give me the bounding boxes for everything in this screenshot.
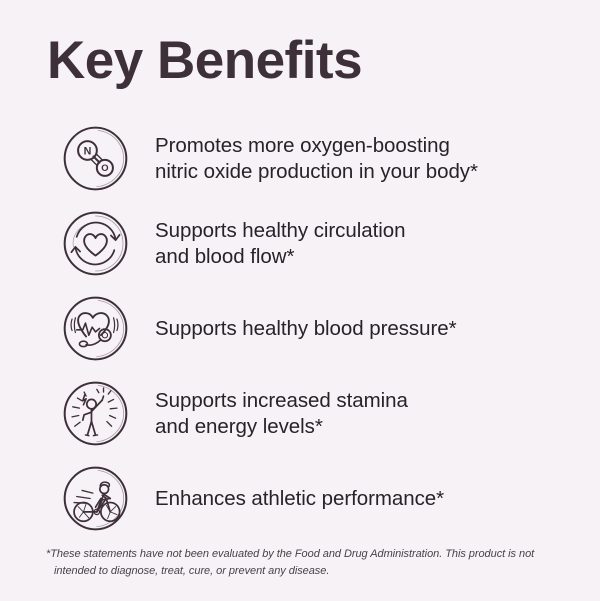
benefit-list: N O Promotes more oxygen-boosting nitric… [0, 116, 600, 541]
benefit-text-line: Enhances athletic performance* [155, 486, 600, 512]
benefit-text: Promotes more oxygen-boosting nitric oxi… [155, 133, 600, 185]
nitric-oxide-molecule-icon: N O [62, 125, 129, 192]
cyclist-icon [62, 465, 129, 532]
benefit-text-line: Supports healthy blood pressure* [155, 316, 600, 342]
benefit-text: Supports increased stamina and energy le… [155, 388, 600, 440]
benefit-text-line: Promotes more oxygen-boosting [155, 133, 600, 159]
disclaimer-line: intended to diagnose, treat, cure, or pr… [46, 563, 556, 580]
fda-disclaimer: *These statements have not been evaluate… [46, 546, 556, 579]
list-item: Supports healthy blood pressure* [0, 286, 600, 371]
blood-pressure-heart-gauge-icon [62, 295, 129, 362]
molecule-label-n: N [84, 145, 92, 157]
benefit-text-line: and blood flow* [155, 244, 600, 270]
disclaimer-line: *These statements have not been evaluate… [46, 546, 556, 563]
benefit-text-line: Supports healthy circulation [155, 218, 600, 244]
benefit-text: Supports healthy circulation and blood f… [155, 218, 600, 270]
list-item: Enhances athletic performance* [0, 456, 600, 541]
list-item: N O Promotes more oxygen-boosting nitric… [0, 116, 600, 201]
benefit-text-line: Supports increased stamina [155, 388, 600, 414]
benefit-text: Supports healthy blood pressure* [155, 316, 600, 342]
benefit-text-line: and energy levels* [155, 414, 600, 440]
benefit-text: Enhances athletic performance* [155, 486, 600, 512]
list-item: Supports healthy circulation and blood f… [0, 201, 600, 286]
page-title: Key Benefits [47, 33, 362, 89]
benefit-text-line: nitric oxide production in your body* [155, 159, 600, 185]
molecule-label-o: O [101, 163, 108, 173]
heart-circulation-arrows-icon [62, 210, 129, 277]
key-benefits-panel: Key Benefits N O [0, 0, 600, 601]
list-item: Supports increased stamina and energy le… [0, 371, 600, 456]
energetic-person-icon [62, 380, 129, 447]
